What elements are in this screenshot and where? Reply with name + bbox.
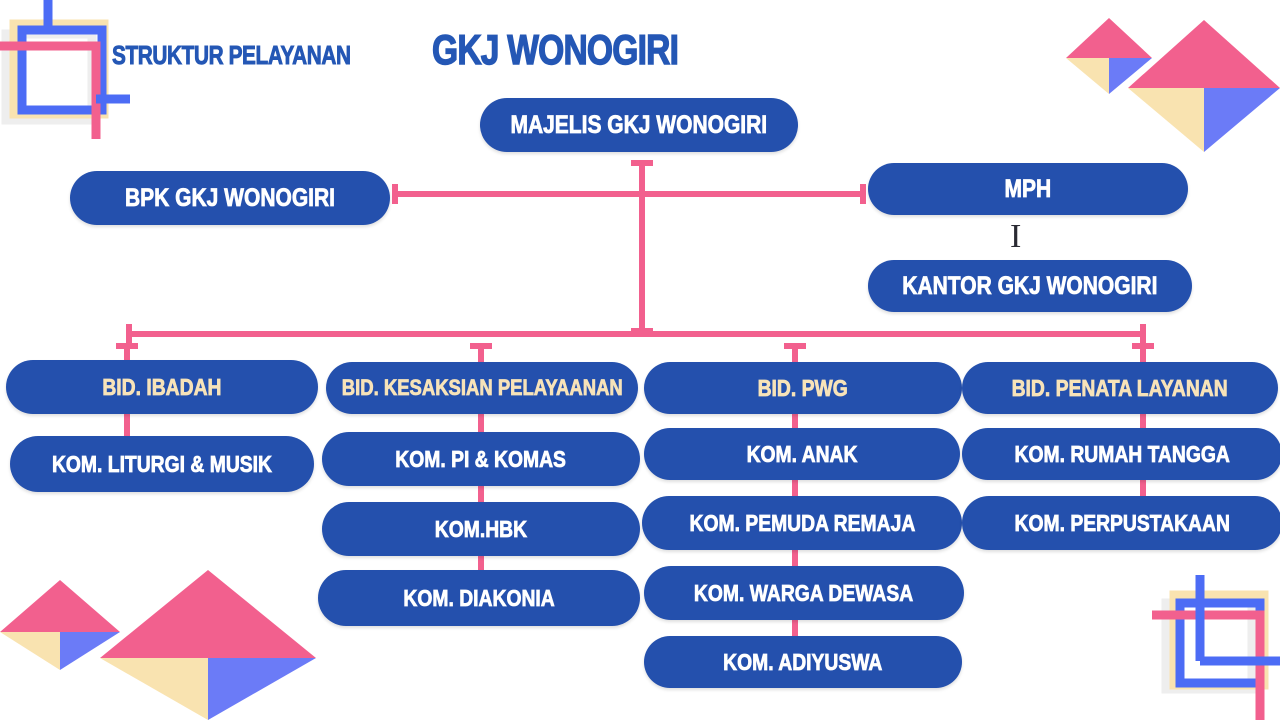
node-bpk-label: BPK GKJ WONOGIRI [125,184,335,213]
node-kom-pi-komas-label: KOM. PI & KOMAS [396,446,567,473]
connector-cap-drop-col-2 [470,343,492,349]
node-kom-anak-label: KOM. ANAK [747,441,858,468]
node-bid-ibadah-label: BID. IBADAH [102,374,221,401]
node-majelis-label: MAJELIS GKJ WONOGIRI [511,111,768,140]
connector-distribution-bar [126,331,1146,337]
node-bpk[interactable]: BPK GKJ WONOGIRI [70,171,390,225]
node-majelis[interactable]: MAJELIS GKJ WONOGIRI [480,98,798,152]
connector-center-vertical [639,160,645,334]
node-bid-kesaksian-label: BID. KESAKSIAN PELAYAANAN [341,375,622,401]
page-title-main: GKJ WONOGIRI [432,26,678,74]
node-kom-pemuda-remaja-label: KOM. PEMUDA REMAJA [689,510,915,537]
node-bid-penata-layanan[interactable]: BID. PENATA LAYANAN [962,362,1278,414]
node-kom-liturgi-musik[interactable]: KOM. LITURGI & MUSIK [10,436,314,492]
node-bid-ibadah[interactable]: BID. IBADAH [6,360,318,414]
slide-canvas: STRUKTUR PELAYANAN GKJ WONOGIRI I MAJELI… [0,0,1280,720]
connector-cap-drop-col-3 [784,343,806,349]
node-bid-kesaksian[interactable]: BID. KESAKSIAN PELAYAANAN [326,362,638,414]
page-title-prefix: STRUKTUR PELAYANAN [112,40,351,71]
connector-top-horizontal [392,191,866,197]
node-kom-adiyuswa-label: KOM. ADIYUSWA [723,649,882,676]
node-kom-hbk[interactable]: KOM.HBK [322,502,640,556]
node-kom-anak[interactable]: KOM. ANAK [644,428,960,480]
node-kom-diakonia[interactable]: KOM. DIAKONIA [318,570,640,626]
node-kom-diakonia-label: KOM. DIAKONIA [403,585,554,612]
page-title: STRUKTUR PELAYANAN GKJ WONOGIRI [112,26,740,74]
node-bid-pwg-label: BID. PWG [758,375,848,402]
node-mph[interactable]: MPH [868,163,1188,215]
node-kom-perpustakaan[interactable]: KOM. PERPUSTAKAAN [962,496,1280,550]
node-kom-rumah-tangga-label: KOM. RUMAH TANGGA [1014,441,1229,468]
node-kom-warga-dewasa[interactable]: KOM. WARGA DEWASA [644,566,964,620]
node-kom-warga-dewasa-label: KOM. WARGA DEWASA [694,580,913,607]
connector-cap-drop-col-4 [1132,343,1154,349]
decoration-tangram-bottom-left-large [100,570,316,720]
node-kom-rumah-tangga[interactable]: KOM. RUMAH TANGGA [962,428,1280,480]
node-kom-pemuda-remaja[interactable]: KOM. PEMUDA REMAJA [642,496,962,550]
connector-cap-bar-right [1140,324,1146,344]
decoration-frame-bottom-right [1152,575,1280,720]
node-mph-label: MPH [1005,175,1052,204]
connector-i-mph-kantor: I [1010,220,1021,254]
connector-cap-left-bpk [392,184,398,204]
decoration-frame-top-left [0,0,130,139]
connector-cap-bar-left [126,324,132,344]
node-bid-penata-layanan-label: BID. PENATA LAYANAN [1012,375,1228,402]
connector-cap-top-majelis [631,160,653,166]
node-kom-hbk-label: KOM.HBK [435,516,527,543]
node-kom-pi-komas[interactable]: KOM. PI & KOMAS [322,432,640,486]
node-kantor[interactable]: KANTOR GKJ WONOGIRI [868,260,1192,312]
node-kantor-label: KANTOR GKJ WONOGIRI [902,272,1157,301]
decoration-tangram-top-right-large [1128,20,1280,152]
connector-cap-right-mph [860,184,866,204]
node-kom-adiyuswa[interactable]: KOM. ADIYUSWA [644,636,962,688]
node-bid-pwg[interactable]: BID. PWG [644,362,962,414]
connector-cap-drop-col-1 [116,343,138,349]
node-kom-perpustakaan-label: KOM. PERPUSTAKAAN [1014,510,1229,537]
node-kom-liturgi-musik-label: KOM. LITURGI & MUSIK [52,451,272,478]
